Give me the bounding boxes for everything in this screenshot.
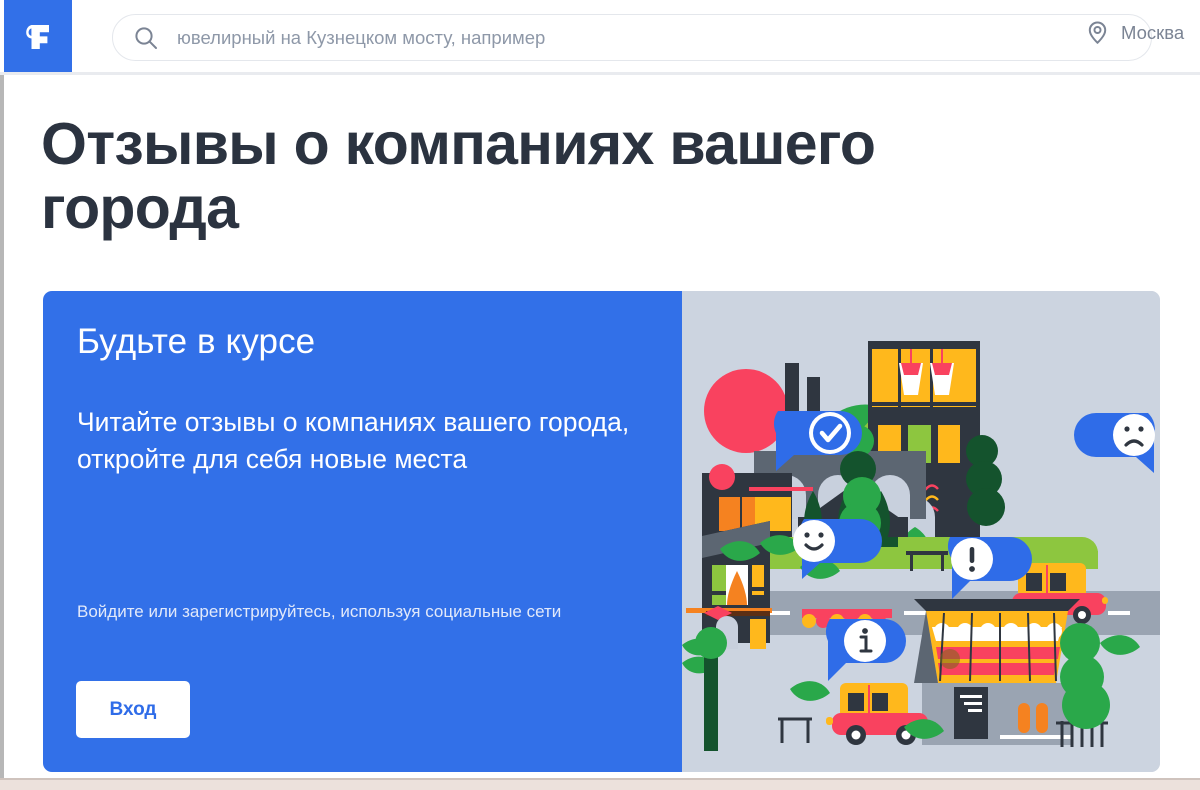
window-bottom-edge-line [0, 778, 1200, 780]
window-left-edge [0, 75, 4, 778]
promo-heading: Будьте в курсе [77, 322, 315, 362]
location-pin-icon [1085, 20, 1110, 45]
search-icon [133, 25, 159, 51]
promo-body: Читайте отзывы о компаниях вашего города… [77, 404, 667, 477]
promo-note: Войдите или зарегистрируйтесь, используя… [77, 599, 642, 625]
search-input[interactable] [177, 23, 1151, 53]
promo-text-panel: Будьте в курсе Читайте отзывы о компания… [43, 291, 682, 772]
flamp-logo-icon [18, 16, 58, 56]
promo-illustration-panel [682, 291, 1160, 772]
city-illustration [682, 291, 1160, 772]
city-picker[interactable]: Москва [1085, 20, 1184, 45]
flamp-logo-link[interactable] [4, 0, 72, 72]
promo-card: Будьте в курсе Читайте отзывы о компания… [43, 291, 1160, 772]
city-label: Москва [1121, 22, 1184, 44]
page-root: Москва Отзывы о компаниях вашего города … [0, 0, 1200, 790]
login-button[interactable]: Вход [76, 681, 190, 738]
site-header: Москва [0, 0, 1200, 75]
search-bar[interactable] [112, 14, 1152, 61]
page-title: Отзывы о компаниях вашего города [41, 113, 961, 240]
